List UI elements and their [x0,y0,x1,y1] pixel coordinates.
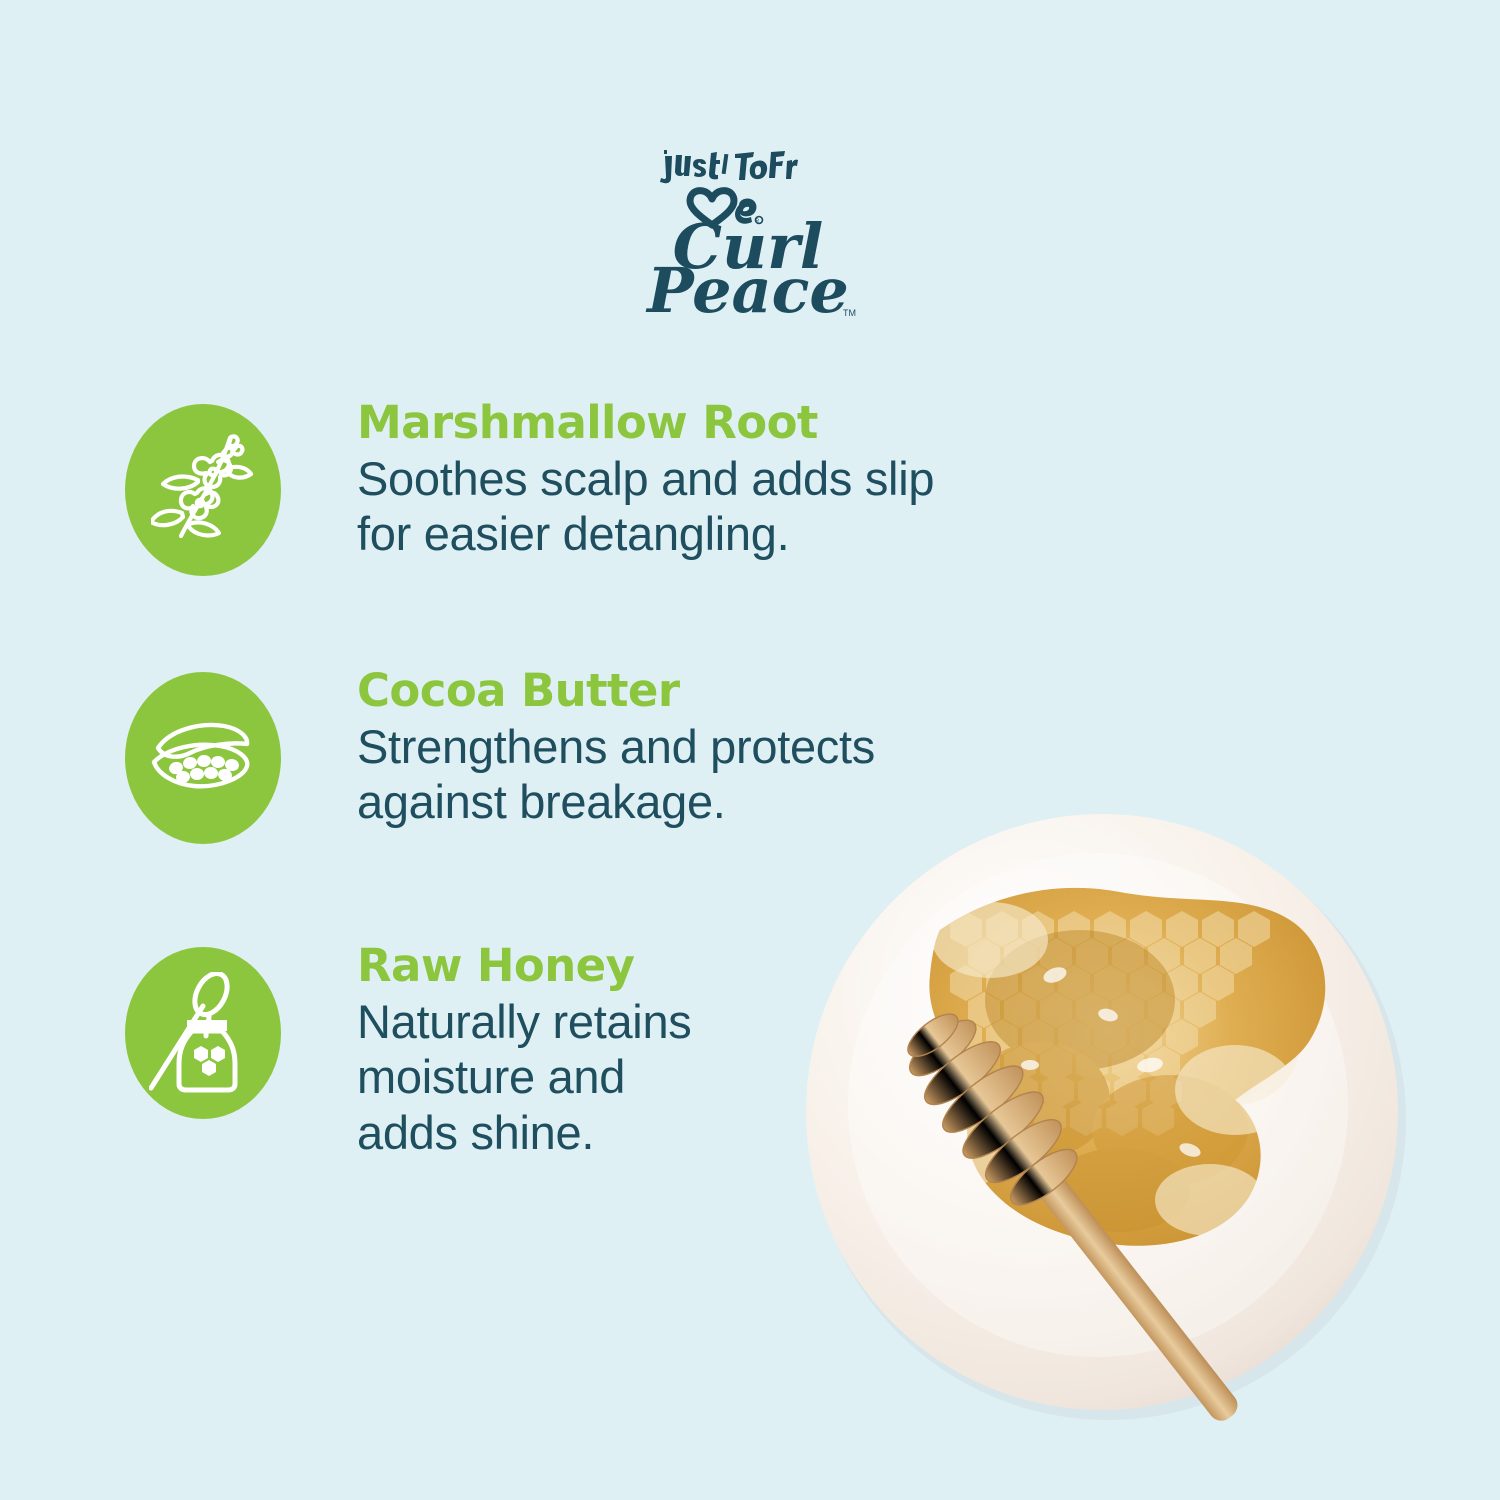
ingredient-text-block: Raw Honey Naturally retains moisture and… [357,941,691,1160]
marshmallow-flower-icon [151,432,255,548]
ingredient-title: Cocoa Butter [357,668,875,714]
brand-logo: R Curl Peace TM [0,150,1500,325]
honeycomb-cells [194,1046,225,1076]
logo-peace-text: Peace [645,254,849,325]
logo-trademark-mark: TM [843,308,856,318]
ingredient-title: Raw Honey [357,943,691,989]
honey-jar-dipper-icon [149,972,257,1094]
ingredient-text-block: Marshmallow Root Soothes scalp and adds … [357,398,934,562]
dipper-head [188,972,233,1020]
ingredient-item-marshmallow-root: Marshmallow Root Soothes scalp and adds … [125,398,1125,576]
cocoa-butter-icon-badge [125,672,281,844]
cacao-pod-icon [148,714,258,802]
brand-logo-artwork: R Curl Peace TM [635,150,865,325]
jar-body [179,1031,235,1090]
honeycomb-photo-artwork [790,800,1500,1500]
ingredient-description: Naturally retains moisture and adds shin… [357,994,691,1160]
ingredient-description: Soothes scalp and adds slip for easier d… [357,451,934,562]
logo-curl-text: Curl [673,210,824,283]
honeycomb-on-plate-photo [790,800,1500,1500]
ingredient-title: Marshmallow Root [357,400,934,446]
raw-honey-icon-badge [125,947,281,1119]
marshmallow-root-icon-badge [125,404,281,576]
logo-just-for-text [660,150,798,183]
svg-text:R: R [756,219,760,225]
logo-me-script: R [690,191,763,225]
